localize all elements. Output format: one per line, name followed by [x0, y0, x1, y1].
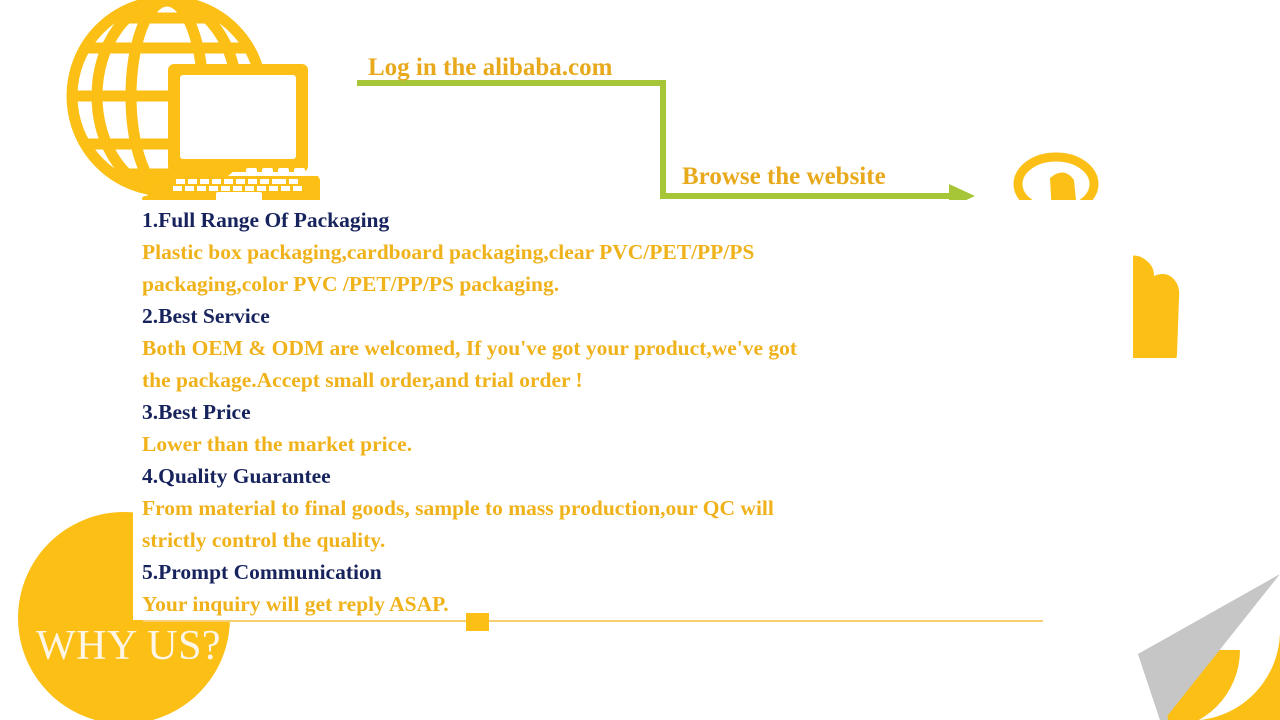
benefits-list: 1.Full Range Of Packaging Plastic box pa… [142, 204, 1012, 620]
list-item: 5.Prompt Communication [142, 556, 1012, 588]
list-item: packaging,color PVC /PET/PP/PS packaging… [142, 268, 1012, 300]
list-item: 2.Best Service [142, 300, 1012, 332]
list-item: 1.Full Range Of Packaging [142, 204, 1012, 236]
list-item: Plastic box packaging,cardboard packagin… [142, 236, 1012, 268]
flow-arrow-icon [355, 78, 980, 208]
list-item: strictly control the quality. [142, 524, 1012, 556]
step-caption-login: Log in the alibaba.com [368, 54, 612, 82]
list-item: From material to final goods, sample to … [142, 492, 1012, 524]
list-item: the package.Accept small order,and trial… [142, 364, 1012, 396]
page-title: WHY US? [36, 622, 221, 670]
list-item: Both OEM & ODM are welcomed, If you've g… [142, 332, 1012, 364]
divider-tab [466, 613, 489, 631]
list-item: Your inquiry will get reply ASAP. [142, 588, 1012, 620]
divider-rule [143, 620, 1043, 622]
list-item: 3.Best Price [142, 396, 1012, 428]
slide-canvas: Log in the alibaba.com Browse the websit… [0, 0, 1280, 720]
list-item: 4.Quality Guarantee [142, 460, 1012, 492]
list-item: Lower than the market price. [142, 428, 1012, 460]
globe-icon [30, 0, 320, 206]
globe-laptop-graphic [30, 0, 320, 206]
laptop-icon [142, 64, 320, 204]
step-caption-browse: Browse the website [682, 163, 886, 191]
